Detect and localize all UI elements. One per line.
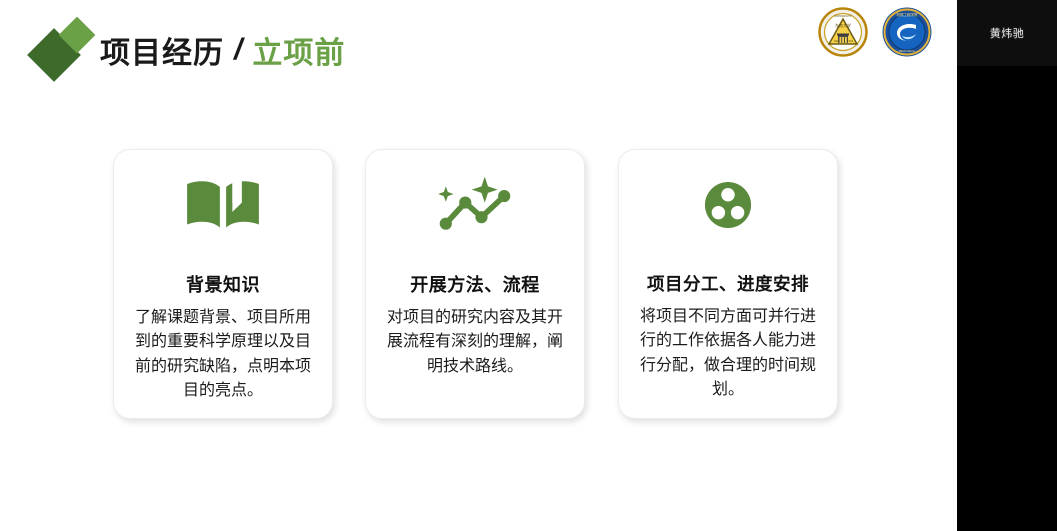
feature-card-body: 对项目的研究内容及其开展流程有深刻的理解，阐明技术路线。	[380, 306, 570, 379]
page-title-subtitle: 立项前	[252, 28, 345, 72]
feature-card-body: 了解课题背景、项目所用到的重要科学原理以及目前的研究缺陷，点明本项目的亮点。	[128, 306, 318, 403]
title-decoration-mark	[33, 20, 95, 78]
svg-text:1902: 1902	[847, 39, 854, 43]
institution-logos: ᴜɴɪᴠᴇʀsɪᴛʏ 东南大学 1902 1902 机械工程学院	[815, 7, 937, 59]
svg-text:MECHANICAL: MECHANICAL	[899, 50, 916, 53]
feature-card-body: 将项目不同方面可并行进行的工作依据各人能力进行分配，做合理的时间规划。	[633, 305, 823, 402]
page-title-main: 项目经历	[100, 28, 224, 72]
page-title-separator: /	[234, 33, 242, 67]
slide-header: 项目经历 / 立项前 ᴜɴɪᴠᴇʀsɪᴛ	[0, 0, 957, 90]
southeast-university-logo: ᴜɴɪᴠᴇʀsɪᴛʏ 东南大学 1902 1902	[818, 7, 868, 57]
feature-card-title: 背景知识	[186, 271, 260, 297]
trend-line-sparkle-icon	[429, 172, 521, 238]
open-book-icon	[177, 172, 269, 238]
feature-card[interactable]: 背景知识 了解课题背景、项目所用到的重要科学原理以及目前的研究缺陷，点明本项目的…	[113, 149, 333, 419]
feature-card-group: 背景知识 了解课题背景、项目所用到的重要科学原理以及目前的研究缺陷，点明本项目的…	[113, 149, 841, 421]
presenter-name-plate: 黄炜驰	[957, 0, 1057, 66]
presentation-slide: 项目经历 / 立项前 ᴜɴɪᴠᴇʀsɪᴛ	[0, 0, 1057, 531]
feature-card[interactable]: 开展方法、流程 对项目的研究内容及其开展流程有深刻的理解，阐明技术路线。	[365, 149, 585, 419]
svg-text:ᴜɴɪᴠᴇʀsɪᴛʏ: ᴜɴɪᴠᴇʀsɪᴛʏ	[834, 13, 851, 18]
feature-card-title: 开展方法、流程	[410, 271, 540, 297]
presenter-name-label: 黄炜驰	[990, 25, 1025, 41]
three-dots-circle-icon	[682, 172, 774, 238]
presenter-video-panel[interactable]: 黄炜驰	[957, 0, 1057, 531]
page-title: 项目经历 / 立项前	[100, 26, 345, 74]
feature-card[interactable]: 项目分工、进度安排 将项目不同方面可并行进行的工作依据各人能力进行分配，做合理的…	[618, 149, 838, 419]
svg-text:东南大学: 东南大学	[835, 22, 851, 28]
svg-text:1902: 1902	[833, 39, 840, 43]
feature-card-title: 项目分工、进度安排	[647, 271, 809, 296]
svg-text:机械工程学院: 机械工程学院	[897, 12, 918, 17]
school-emblem-logo: 机械工程学院 MECHANICAL	[882, 7, 932, 57]
